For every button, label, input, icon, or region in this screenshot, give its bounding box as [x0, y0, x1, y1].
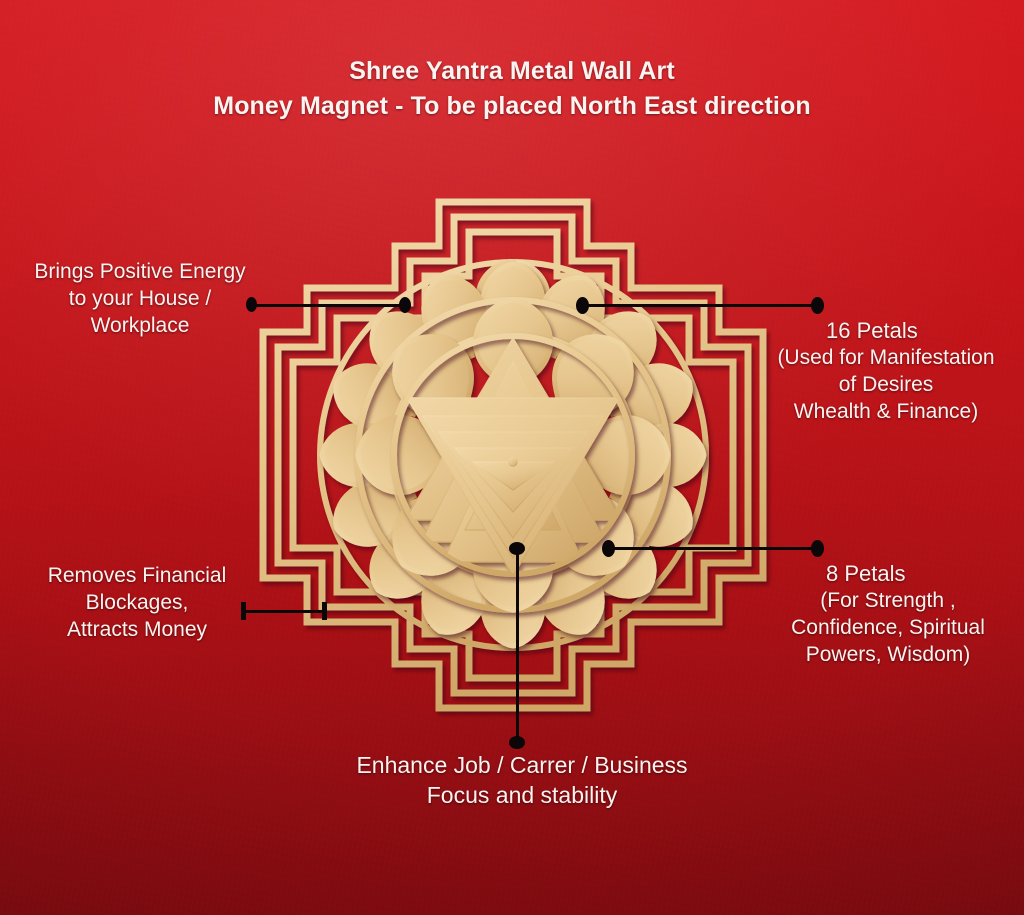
leader-line-positive-energy: [251, 304, 407, 307]
leader-dot-eight-petals-outer: [811, 540, 824, 557]
leader-dot-sixteen-petals-inner: [576, 297, 589, 314]
leader-line-eight-petals: [608, 547, 820, 550]
callout-sixteen-petals: 16 Petals (Used for Manifestation of Des…: [826, 290, 1024, 452]
page-title: Shree Yantra Metal Wall Art Money Magnet…: [0, 54, 1024, 124]
callout-sixteen-petals-detail: (Used for Manifestation of Desires Wheal…: [750, 344, 1022, 425]
shree-yantra-artwork: [243, 190, 783, 720]
callout-enhance-job: Enhance Job / Carrer / Business Focus an…: [262, 750, 782, 810]
leader-dot-positive-energy-right: [399, 297, 411, 313]
title-line-1: Shree Yantra Metal Wall Art: [0, 54, 1024, 89]
leader-line-financial-blockages: [243, 610, 325, 613]
callout-eight-petals-heading: 8 Petals: [826, 561, 906, 586]
leader-dot-enhance-job-bottom: [509, 736, 525, 749]
callout-eight-petals: 8 Petals (For Strength , Confidence, Spi…: [826, 533, 1024, 695]
leader-line-enhance-job: [516, 548, 519, 744]
leader-dot-eight-petals-inner: [602, 540, 615, 557]
image-canvas: Shree Yantra Metal Wall Art Money Magnet…: [0, 0, 1024, 915]
callout-financial-blockages: Removes Financial Blockages, Attracts Mo…: [8, 562, 266, 643]
leader-line-sixteen-petals: [583, 304, 821, 307]
callout-eight-petals-detail: (For Strength , Confidence, Spiritual Po…: [758, 587, 1018, 668]
leader-cap-financial-blockages-left: [241, 602, 246, 620]
leader-cap-financial-blockages-right: [322, 602, 327, 620]
callout-positive-energy: Brings Positive Energy to your House / W…: [2, 258, 278, 339]
title-line-2: Money Magnet - To be placed North East d…: [0, 89, 1024, 124]
shree-yantra-svg: [243, 190, 783, 720]
callout-sixteen-petals-heading: 16 Petals: [826, 318, 918, 343]
leader-dot-enhance-job-top: [509, 542, 525, 555]
leader-dot-sixteen-petals-outer: [811, 297, 824, 314]
leader-dot-positive-energy-left: [246, 297, 257, 312]
